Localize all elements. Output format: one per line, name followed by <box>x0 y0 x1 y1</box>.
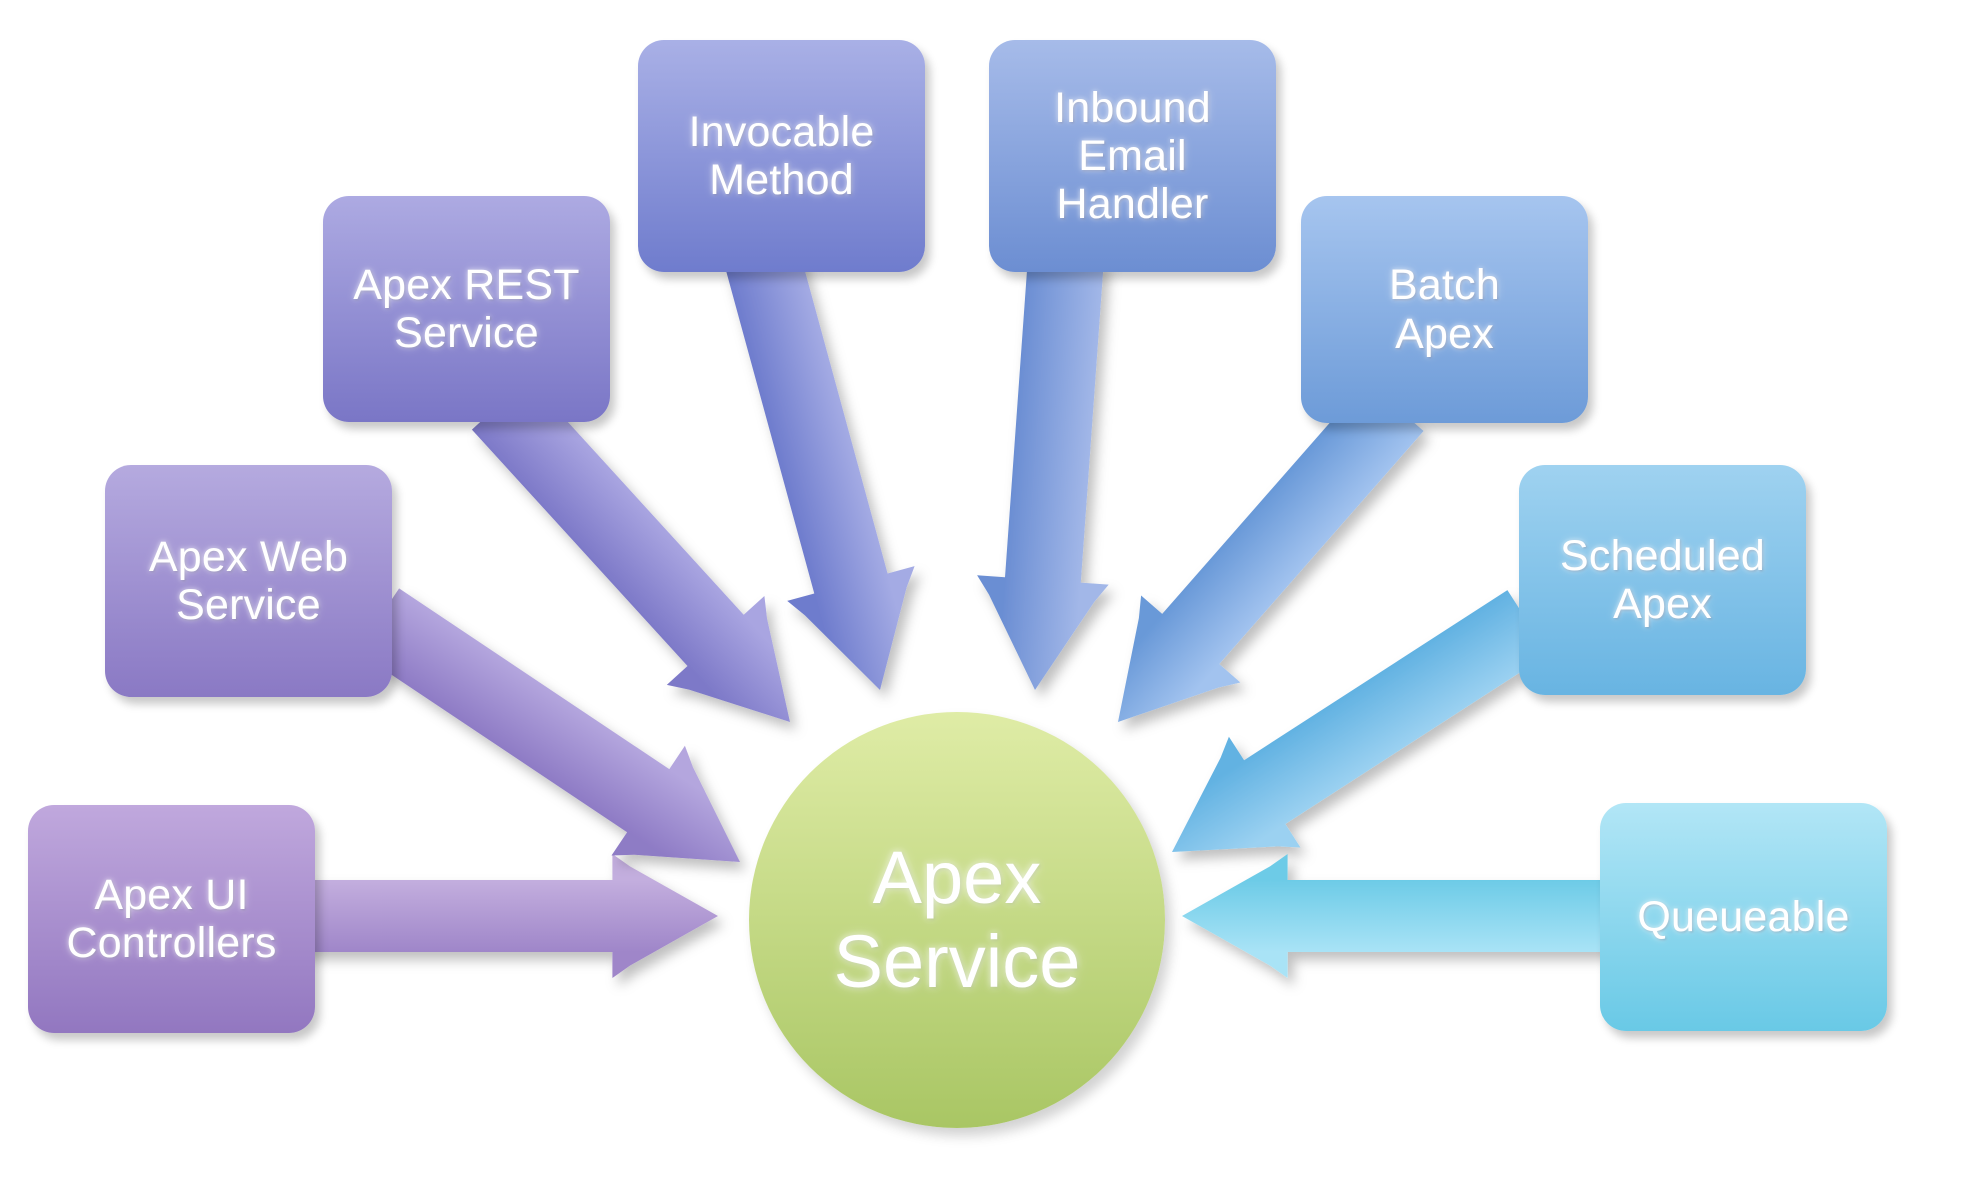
node-label-batch-apex: Batch Apex <box>1389 261 1500 357</box>
node-box-batch-apex[interactable]: Batch Apex <box>1301 196 1588 423</box>
node-label-apex-ui-controllers: Apex UI Controllers <box>66 871 276 967</box>
node-box-apex-rest-service[interactable]: Apex REST Service <box>323 196 610 422</box>
node-label-queueable: Queueable <box>1637 893 1849 941</box>
center-node-label: Apex Service <box>834 836 1081 1005</box>
node-box-invocable-method[interactable]: Invocable Method <box>638 40 925 272</box>
node-label-apex-rest-service: Apex REST Service <box>353 261 579 357</box>
node-label-apex-web-service: Apex Web Service <box>149 533 348 629</box>
node-box-scheduled-apex[interactable]: Scheduled Apex <box>1519 465 1806 695</box>
diagram-canvas: Apex UI ControllersApex Web ServiceApex … <box>0 0 1984 1186</box>
arrow-batch-apex <box>1118 381 1424 722</box>
node-box-queueable[interactable]: Queueable <box>1600 803 1887 1031</box>
node-label-scheduled-apex: Scheduled Apex <box>1560 532 1765 628</box>
arrow-apex-ui-controllers <box>300 854 718 978</box>
node-box-inbound-email-handler[interactable]: Inbound Email Handler <box>989 40 1276 272</box>
arrow-inbound-email-handler <box>977 255 1109 690</box>
center-node-apex-service[interactable]: Apex Service <box>749 712 1165 1128</box>
arrow-queueable <box>1182 854 1615 978</box>
node-box-apex-ui-controllers[interactable]: Apex UI Controllers <box>28 805 315 1033</box>
node-box-apex-web-service[interactable]: Apex Web Service <box>105 465 392 697</box>
node-label-invocable-method: Invocable Method <box>689 108 875 204</box>
node-label-inbound-email-handler: Inbound Email Handler <box>1054 84 1211 228</box>
